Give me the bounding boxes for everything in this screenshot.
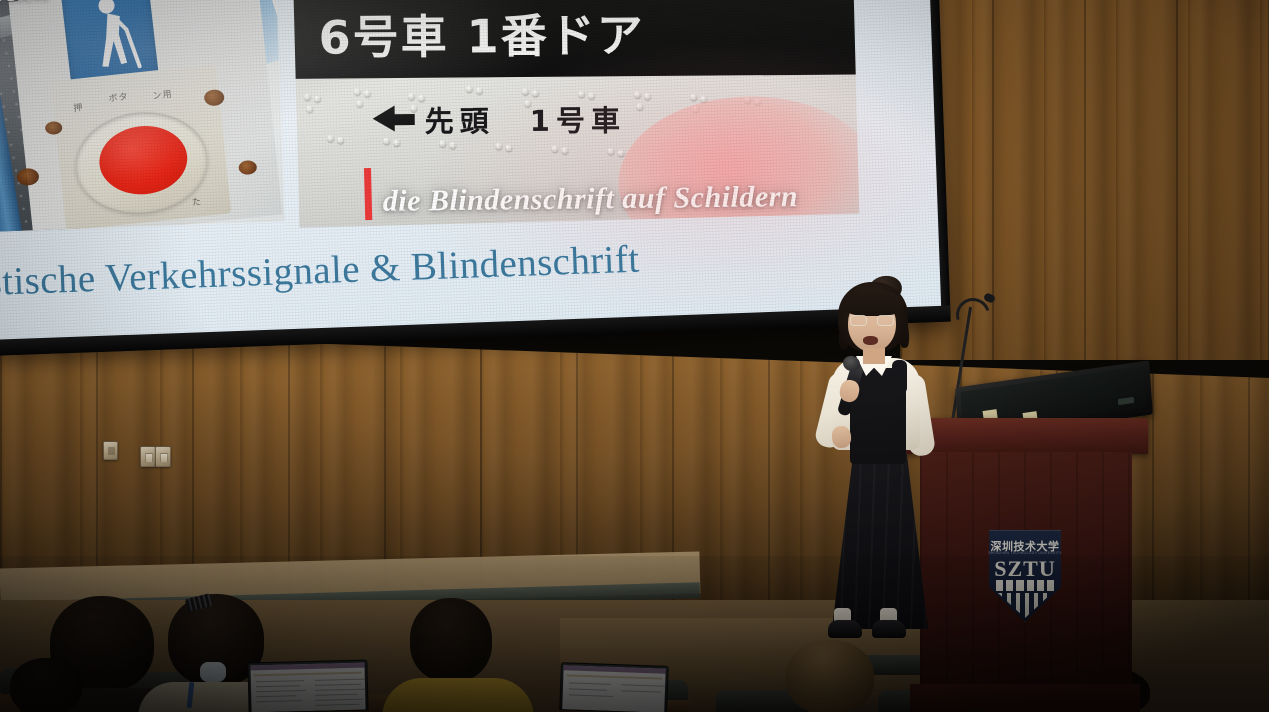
face-mask-icon [200, 662, 226, 682]
presenter-bangs [842, 290, 904, 316]
caption-accent-bar [364, 168, 372, 220]
light-switch-icon[interactable] [140, 446, 156, 467]
sign-front-car-text: 先頭 1号車 [425, 98, 626, 141]
light-switch-icon[interactable] [155, 446, 171, 467]
slide-heading: ustische Verkehrssignale & Blindenschrif… [0, 230, 827, 306]
crest-abbreviation: SZTU [986, 556, 1064, 582]
audience-member [0, 650, 110, 712]
lectern-base [910, 684, 1140, 712]
glasses-icon [850, 315, 894, 326]
crest-english-name: SHENZHEN TECHNOLOGY UNIVERSITY [986, 551, 1064, 555]
open-laptop[interactable] [247, 660, 368, 712]
pedestrian-push-button: 押 ボタ ン用 た [51, 64, 232, 231]
slide-text-fragment: iert sich bel [0, 0, 208, 51]
presenter-shoe-right [872, 620, 906, 638]
presenter-mouth [863, 336, 878, 345]
arrow-left-icon [373, 106, 395, 132]
sign-car-door-band: 6号車 1番ドア [292, 0, 859, 79]
sztu-crest-logo: 深圳技术大学 SHENZHEN TECHNOLOGY UNIVERSITY SZ… [986, 530, 1064, 622]
presenter-neck [863, 348, 885, 364]
audience-member [396, 594, 512, 712]
projected-slide: 押 ボタ ン用 た [0, 0, 942, 342]
open-laptop[interactable] [559, 662, 669, 712]
sign-car-door-text: 6号車 1番ドア [318, 12, 644, 61]
arrow-left-icon-tail [393, 114, 415, 125]
network-jack-icon [103, 441, 118, 460]
presenter-shoe-left [828, 620, 862, 638]
lecture-hall-photo: 押 ボタ ン用 た [0, 0, 1269, 712]
slide-photo-braille-sign: 御茶ノ水・千葉方面 6号車 1番ドア 先頭 1号車 die Blindensch… [292, 0, 859, 228]
presenter-skirt [832, 454, 928, 629]
presenter [806, 276, 966, 676]
slide-caption-braille: die Blindenschrift auf Schildern [383, 180, 799, 219]
